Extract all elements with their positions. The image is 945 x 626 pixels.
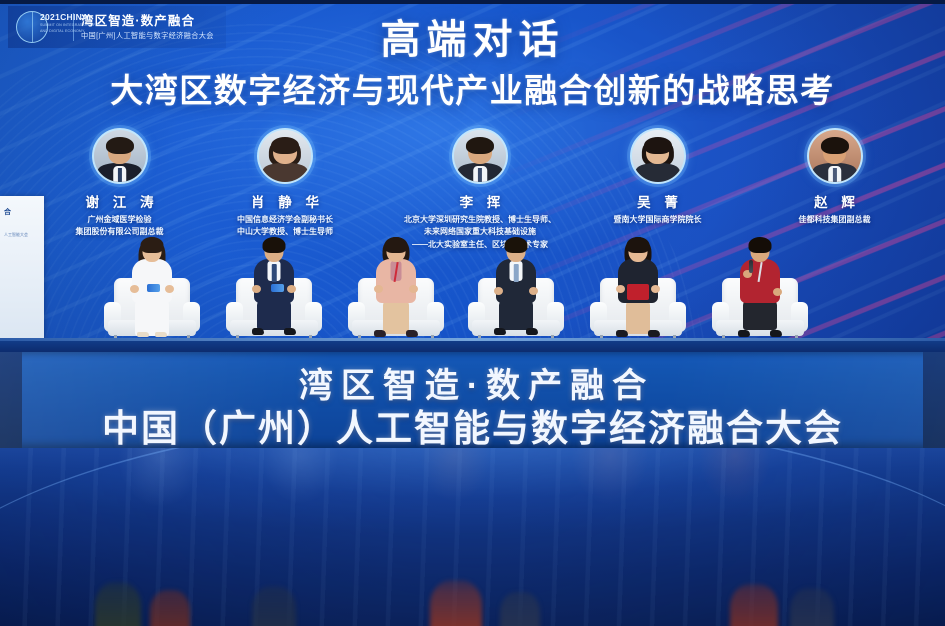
panelist	[485, 240, 547, 338]
avatar	[807, 128, 863, 184]
conference-stage-photo: 2021CHINA SUMMIT ON INTEGRATION OF AI AN…	[0, 0, 945, 626]
speaker-card: 李 挥 北京大学深圳研究生院教授、博士生导师、 未来网络国家重大科技基础设施 —…	[370, 128, 590, 250]
session-subtitle: 大湾区数字经济与现代产业融合创新的战略思考	[0, 74, 945, 107]
microphone	[271, 284, 284, 292]
panelist	[365, 240, 427, 338]
speaker-card: 吴 菁 暨南大学国际商学院院长	[580, 128, 735, 225]
speaker-title-line: 中国信息经济学会副秘书长	[205, 214, 365, 225]
panelist	[121, 240, 183, 338]
panelist	[729, 240, 791, 338]
stage-platform-edge	[0, 338, 945, 341]
panelist	[607, 240, 669, 338]
speaker-title-line: 广州金域医学检验	[32, 214, 207, 225]
speaker-name: 赵 辉	[752, 191, 917, 211]
panelist-row	[0, 236, 945, 346]
stage-front-banner: 湾区智造·数产融合 中国（广州）人工智能与数字经济融合大会	[0, 352, 945, 448]
speaker-name: 肖 静 华	[205, 191, 365, 211]
avatar	[257, 128, 313, 184]
avatar	[630, 128, 686, 184]
speaker-name: 吴 菁	[580, 191, 735, 211]
banner-event-name: 中国（广州）人工智能与数字经济融合大会	[0, 398, 945, 448]
speaker-card: 谢 江 涛 广州金域医学检验 集团股份有限公司副总裁	[32, 128, 207, 238]
handheld-microphone	[749, 260, 753, 273]
foreground-audience-silhouettes	[0, 566, 945, 626]
speaker-title-line: 北京大学深圳研究生院教授、博士生导师、	[370, 214, 590, 225]
side-banner-text: 合	[4, 208, 40, 217]
session-title: 高端对话	[0, 20, 945, 60]
speaker-card: 赵 辉 佳都科技集团副总裁	[752, 128, 917, 225]
speaker-title-line: 暨南大学国际商学院院长	[580, 214, 735, 225]
stage-floor: 中国（广州）人工智能与数字经济融合大会	[0, 448, 945, 626]
frame-top-edge	[0, 0, 945, 4]
panelist	[243, 240, 305, 338]
avatar	[452, 128, 508, 184]
speaker-title-line: 佳都科技集团副总裁	[752, 214, 917, 225]
speaker-card-row: 谢 江 涛 广州金域医学检验 集团股份有限公司副总裁 肖 静 华 中国信息经济学…	[0, 128, 945, 253]
speaker-name: 李 挥	[370, 191, 590, 211]
speaker-name: 谢 江 涛	[32, 191, 207, 211]
speaker-card: 肖 静 华 中国信息经济学会副秘书长 中山大学教授、博士生导师	[205, 128, 365, 238]
led-screen-backdrop: 2021CHINA SUMMIT ON INTEGRATION OF AI AN…	[0, 0, 945, 350]
microphone	[147, 284, 160, 292]
avatar	[92, 128, 148, 184]
